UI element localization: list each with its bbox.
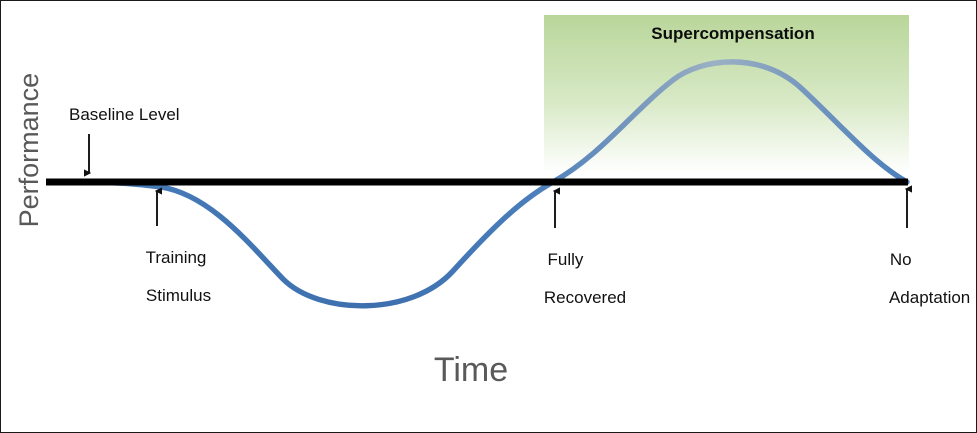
no-adaptation-label: No Adaptation [871, 231, 970, 326]
fully-recovered-label-line2: Recovered [544, 288, 626, 307]
training-stimulus-label: Training Stimulus [127, 229, 189, 324]
figure-canvas: Performance Time Baseline Level Training… [0, 0, 977, 433]
training-stimulus-label-line2: Stimulus [146, 286, 211, 305]
x-axis-title: Time [371, 351, 571, 389]
y-axis-title: Performance [14, 60, 44, 240]
fully-recovered-label: Fully Recovered [525, 231, 587, 326]
fully-recovered-label-line1: Fully [548, 250, 584, 269]
no-adaptation-label-line2: Adaptation [889, 288, 970, 307]
no-adaptation-label-line1: No [890, 250, 912, 269]
baseline-level-label: Baseline Level [69, 105, 180, 124]
training-stimulus-label-line1: Training [146, 248, 207, 267]
supercompensation-region-title: Supercompensation [602, 24, 864, 43]
